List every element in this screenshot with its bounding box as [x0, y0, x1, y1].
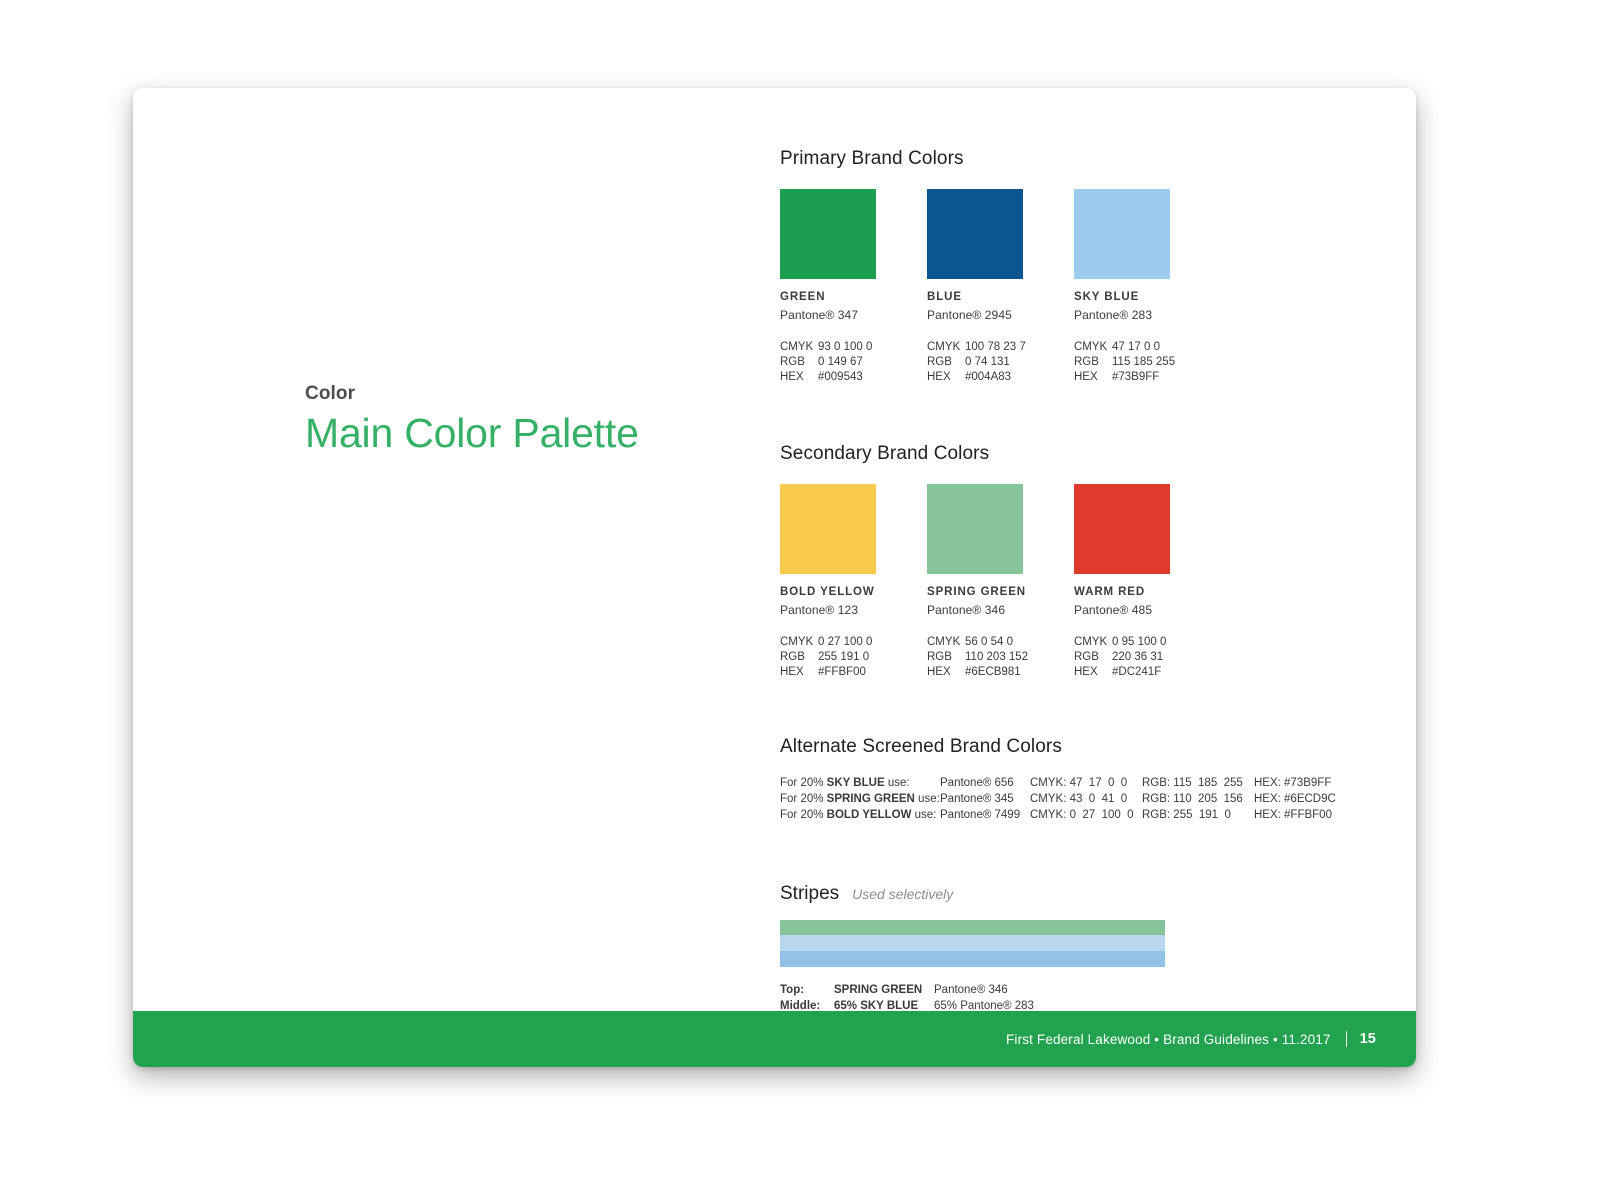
- alt-cmyk: CMYK: 0 27 100 0: [1030, 809, 1142, 825]
- cmyk-label: CMYK: [780, 635, 818, 650]
- swatch-name: WARM RED: [1074, 586, 1220, 598]
- hex-label: HEX: [927, 665, 965, 680]
- rgb-label: RGB: [1074, 355, 1112, 370]
- alt-cmyk: CMYK: 47 17 0 0: [1030, 777, 1142, 793]
- alt-cmyk: CMYK: 43 0 41 0: [1030, 793, 1142, 809]
- alt-pantone: Pantone® 7499: [940, 809, 1030, 825]
- alt-use-color: BOLD YELLOW: [827, 809, 912, 821]
- cmyk-value: 93 0 100 0: [818, 340, 872, 355]
- alt-hex: HEX: #FFBF00: [1254, 809, 1354, 825]
- cmyk-value: 56 0 54 0: [965, 635, 1013, 650]
- rgb-value: 0 74 131: [965, 355, 1010, 370]
- spacer: [780, 825, 1360, 883]
- alternate-heading: Alternate Screened Brand Colors: [780, 736, 1360, 758]
- color-chip: [780, 484, 876, 574]
- alt-use-prefix: For 20%: [780, 809, 827, 821]
- secondary-heading: Secondary Brand Colors: [780, 443, 1360, 465]
- rgb-value: 255 191 0: [818, 650, 869, 665]
- hex-value: #6ECB981: [965, 665, 1021, 680]
- hex-label: HEX: [780, 665, 818, 680]
- swatch-specs: CMYK0 95 100 0 RGB220 36 31 HEX#DC241F: [1074, 635, 1220, 681]
- primary-swatch-row: GREEN Pantone® 347 CMYK93 0 100 0 RGB0 1…: [780, 189, 1360, 386]
- cmyk-label: CMYK: [927, 340, 965, 355]
- spacer: [780, 386, 1360, 443]
- content-column: Primary Brand Colors GREEN Pantone® 347 …: [780, 148, 1360, 1032]
- swatch-specs: CMYK100 78 23 7 RGB0 74 131 HEX#004A83: [927, 340, 1073, 386]
- section-stripes: Stripes Used selectively Top: SPRING GRE…: [780, 883, 1360, 1032]
- swatch-warm-red: WARM RED Pantone® 485 CMYK0 95 100 0 RGB…: [1074, 484, 1220, 681]
- alt-use-suffix: use:: [915, 793, 940, 805]
- alt-rgb: RGB: 110 205 156: [1142, 793, 1254, 809]
- cmyk-label: CMYK: [1074, 340, 1112, 355]
- cmyk-value: 47 17 0 0: [1112, 340, 1160, 355]
- spacer: [780, 680, 1360, 736]
- swatch-green: GREEN Pantone® 347 CMYK93 0 100 0 RGB0 1…: [780, 189, 926, 386]
- swatch-name: SPRING GREEN: [927, 586, 1073, 598]
- alt-pantone: Pantone® 345: [940, 793, 1030, 809]
- section-alternate-screened-colors: Alternate Screened Brand Colors For 20% …: [780, 736, 1360, 825]
- cmyk-value: 0 27 100 0: [818, 635, 872, 650]
- section-secondary-brand-colors: Secondary Brand Colors BOLD YELLOW Panto…: [780, 443, 1360, 681]
- swatch-specs: CMYK0 27 100 0 RGB255 191 0 HEX#FFBF00: [780, 635, 926, 681]
- primary-heading: Primary Brand Colors: [780, 148, 1360, 170]
- rgb-label: RGB: [780, 355, 818, 370]
- swatch-specs: CMYK56 0 54 0 RGB110 203 152 HEX#6ECB981: [927, 635, 1073, 681]
- hex-value: #DC241F: [1112, 665, 1161, 680]
- hex-label: HEX: [927, 370, 965, 385]
- rgb-label: RGB: [1074, 650, 1112, 665]
- color-chip: [1074, 189, 1170, 279]
- hex-value: #73B9FF: [1112, 370, 1159, 385]
- cmyk-label: CMYK: [780, 340, 818, 355]
- alt-use-color: SKY BLUE: [827, 777, 885, 789]
- stripes-title: Stripes: [780, 883, 839, 905]
- secondary-swatch-row: BOLD YELLOW Pantone® 123 CMYK0 27 100 0 …: [780, 484, 1360, 681]
- cmyk-label: CMYK: [1074, 635, 1112, 650]
- swatch-pantone: Pantone® 283: [1074, 308, 1220, 322]
- alt-use-cell: For 20% SPRING GREEN use:: [780, 793, 940, 809]
- color-chip: [927, 189, 1023, 279]
- alt-use-cell: For 20% SKY BLUE use:: [780, 777, 940, 793]
- alt-pantone: Pantone® 656: [940, 777, 1030, 793]
- page-title: Main Color Palette: [305, 411, 725, 455]
- hex-value: #FFBF00: [818, 665, 866, 680]
- alt-use-suffix: use:: [911, 809, 936, 821]
- stripe-band-top: [780, 920, 1165, 935]
- table-row: For 20% SKY BLUE use: Pantone® 656 CMYK:…: [780, 777, 1354, 793]
- alt-rgb: RGB: 255 191 0: [1142, 809, 1254, 825]
- alt-rgb: RGB: 115 185 255: [1142, 777, 1254, 793]
- alt-use-cell: For 20% BOLD YELLOW use:: [780, 809, 940, 825]
- swatch-name: BLUE: [927, 291, 1073, 303]
- stripes-subtitle: Used selectively: [852, 886, 953, 902]
- table-row: For 20% BOLD YELLOW use: Pantone® 7499 C…: [780, 809, 1354, 825]
- rgb-value: 110 203 152: [965, 650, 1028, 665]
- stripe-band-middle: [780, 935, 1165, 951]
- hex-label: HEX: [780, 370, 818, 385]
- section-primary-brand-colors: Primary Brand Colors GREEN Pantone® 347 …: [780, 148, 1360, 386]
- footer-divider: [1346, 1031, 1347, 1047]
- color-chip: [780, 189, 876, 279]
- swatch-pantone: Pantone® 485: [1074, 603, 1220, 617]
- hex-value: #004A83: [965, 370, 1011, 385]
- screenshot-canvas: Color Main Color Palette Primary Brand C…: [0, 0, 1600, 1200]
- page-eyebrow: Color: [305, 383, 725, 405]
- swatch-specs: CMYK93 0 100 0 RGB0 149 67 HEX#009543: [780, 340, 926, 386]
- stripe-band-bottom: [780, 951, 1165, 967]
- alt-hex: HEX: #73B9FF: [1254, 777, 1354, 793]
- swatch-pantone: Pantone® 123: [780, 603, 926, 617]
- swatch-specs: CMYK47 17 0 0 RGB115 185 255 HEX#73B9FF: [1074, 340, 1220, 386]
- page-footer: First Federal Lakewood • Brand Guideline…: [133, 1011, 1416, 1067]
- swatch-pantone: Pantone® 346: [927, 603, 1073, 617]
- rgb-label: RGB: [780, 650, 818, 665]
- table-row: Top: SPRING GREEN Pantone® 346: [780, 984, 1074, 1000]
- alt-use-prefix: For 20%: [780, 777, 827, 789]
- document-page: Color Main Color Palette Primary Brand C…: [133, 88, 1416, 1067]
- swatch-name: GREEN: [780, 291, 926, 303]
- footer-content: First Federal Lakewood • Brand Guideline…: [1006, 1031, 1416, 1047]
- swatch-name: SKY BLUE: [1074, 291, 1220, 303]
- cmyk-label: CMYK: [927, 635, 965, 650]
- swatch-spring-green: SPRING GREEN Pantone® 346 CMYK56 0 54 0 …: [927, 484, 1073, 681]
- swatch-pantone: Pantone® 2945: [927, 308, 1073, 322]
- table-row: For 20% SPRING GREEN use: Pantone® 345 C…: [780, 793, 1354, 809]
- swatch-name: BOLD YELLOW: [780, 586, 926, 598]
- cmyk-value: 100 78 23 7: [965, 340, 1026, 355]
- swatch-blue: BLUE Pantone® 2945 CMYK100 78 23 7 RGB0 …: [927, 189, 1073, 386]
- stripe-pantone: Pantone® 346: [934, 984, 1074, 1000]
- rgb-value: 115 185 255: [1112, 355, 1175, 370]
- hex-value: #009543: [818, 370, 863, 385]
- footer-text: First Federal Lakewood • Brand Guideline…: [1006, 1032, 1331, 1047]
- alternate-colors-table: For 20% SKY BLUE use: Pantone® 656 CMYK:…: [780, 777, 1354, 825]
- page-number: 15: [1360, 1031, 1376, 1047]
- swatch-bold-yellow: BOLD YELLOW Pantone® 123 CMYK0 27 100 0 …: [780, 484, 926, 681]
- rgb-value: 0 149 67: [818, 355, 863, 370]
- alt-hex: HEX: #6ECD9C: [1254, 793, 1354, 809]
- color-chip: [927, 484, 1023, 574]
- page-title-block: Color Main Color Palette: [305, 383, 725, 455]
- cmyk-value: 0 95 100 0: [1112, 635, 1166, 650]
- alt-use-color: SPRING GREEN: [827, 793, 915, 805]
- alt-use-prefix: For 20%: [780, 793, 827, 805]
- rgb-label: RGB: [927, 650, 965, 665]
- swatch-pantone: Pantone® 347: [780, 308, 926, 322]
- stripe-graphic: [780, 920, 1165, 967]
- hex-label: HEX: [1074, 665, 1112, 680]
- hex-label: HEX: [1074, 370, 1112, 385]
- color-chip: [1074, 484, 1170, 574]
- stripes-heading: Stripes Used selectively: [780, 883, 1360, 905]
- swatch-sky-blue: SKY BLUE Pantone® 283 CMYK47 17 0 0 RGB1…: [1074, 189, 1220, 386]
- stripe-color-name: SPRING GREEN: [834, 984, 934, 1000]
- rgb-label: RGB: [927, 355, 965, 370]
- rgb-value: 220 36 31: [1112, 650, 1163, 665]
- alt-use-suffix: use:: [885, 777, 910, 789]
- stripe-position: Top:: [780, 984, 834, 1000]
